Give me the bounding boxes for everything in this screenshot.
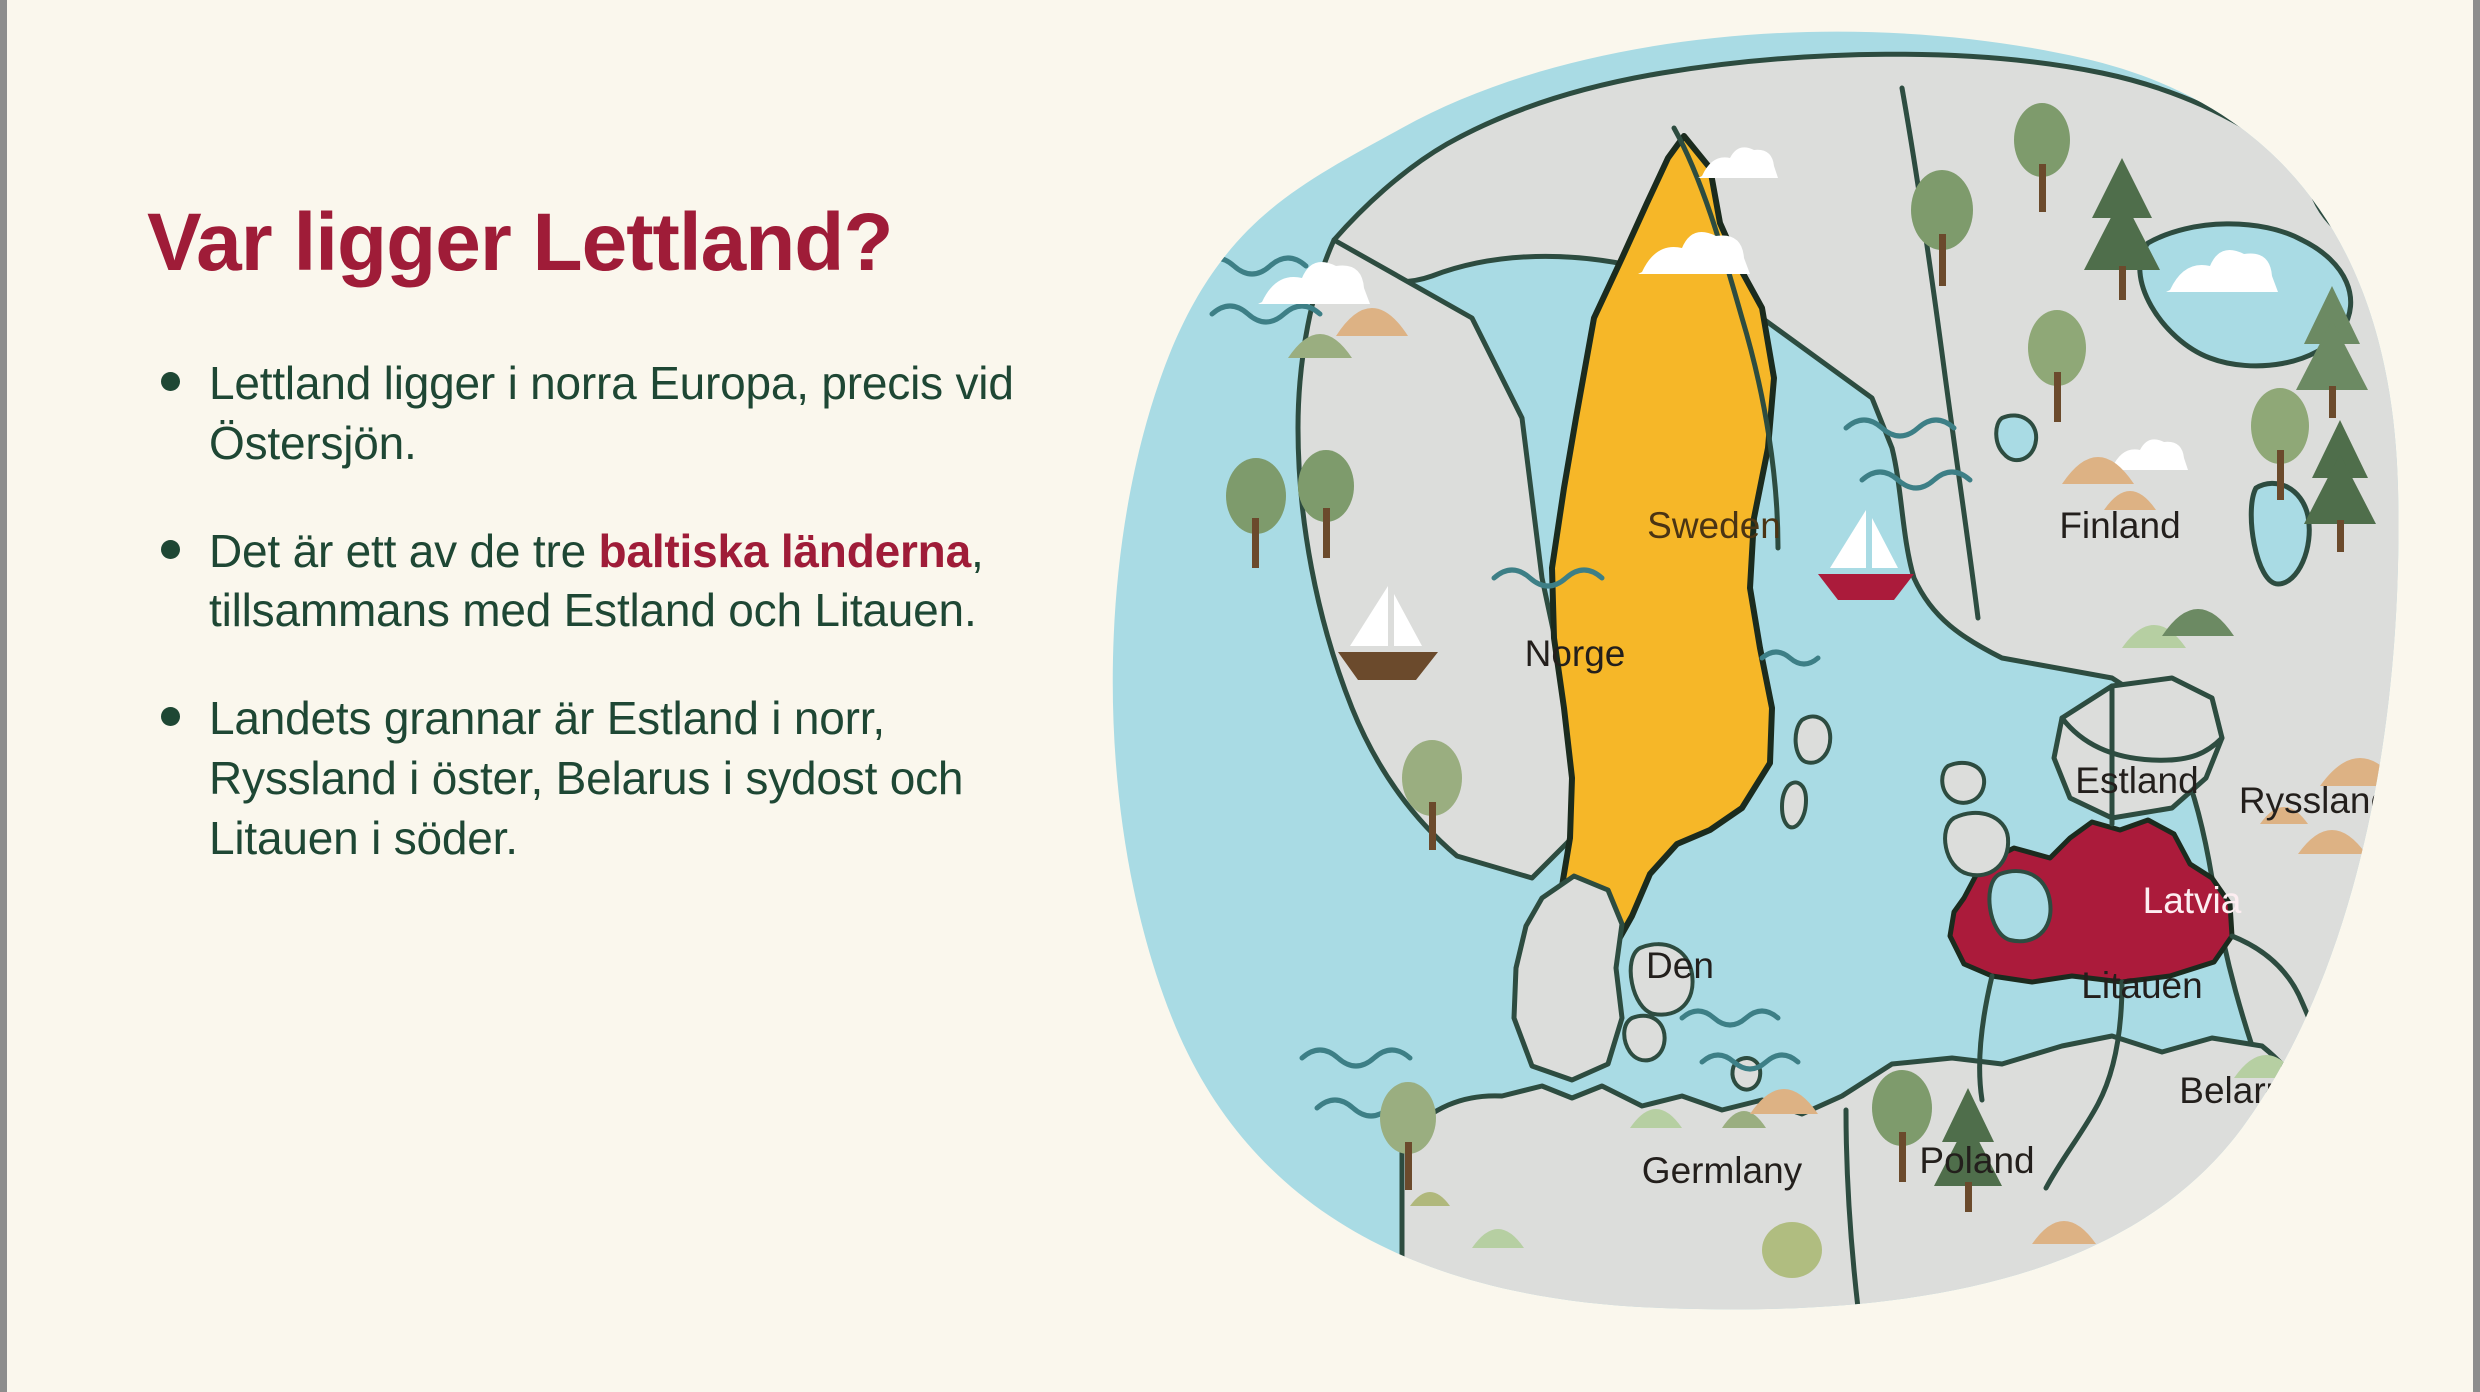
map-illustration: Sweden Norge Finland Estland Latvia Ryss… xyxy=(1102,18,2402,1378)
island-gotland xyxy=(1796,716,1831,762)
page-title: Var ligger Lettland? xyxy=(147,200,1047,286)
map-label-belarus: Belarus xyxy=(2179,1070,2304,1111)
lake-finland-small xyxy=(1996,415,2036,460)
bullet-text-2a: Det är ett av de tre xyxy=(209,525,599,577)
map-blob: Sweden Norge Finland Estland Latvia Ryss… xyxy=(1102,18,2402,1378)
map-label-ryssland: Ryssland xyxy=(2239,780,2391,821)
bullet-text-2-highlight: baltiska länderna xyxy=(599,525,971,577)
bullet-text-1: Lettland ligger i norra Europa, precis v… xyxy=(209,357,1014,469)
bullet-item-1: Lettland ligger i norra Europa, precis v… xyxy=(147,354,1047,474)
island-saaremaa xyxy=(1945,813,2008,875)
map-label-norge: Norge xyxy=(1525,633,1626,674)
map-svg: Sweden Norge Finland Estland Latvia Ryss… xyxy=(1102,18,2402,1378)
gulf-of-riga xyxy=(1989,871,2050,941)
bullet-text-3: Landets grannar är Estland i norr, Ryssl… xyxy=(209,692,963,864)
bullet-dot-icon xyxy=(161,707,180,726)
island-oland xyxy=(1782,782,1806,827)
map-label-latvia: Latvia xyxy=(2143,880,2242,921)
map-label-litauen: Litauen xyxy=(2081,965,2202,1006)
island-hiiumaa xyxy=(1942,763,1984,803)
map-label-sweden: Sweden xyxy=(1647,505,1781,546)
bullet-dot-icon xyxy=(161,372,180,391)
text-column: Var ligger Lettland? Lettland ligger i n… xyxy=(147,200,1047,917)
bullet-item-3: Landets grannar är Estland i norr, Ryssl… xyxy=(147,689,1047,868)
map-label-poland: Poland xyxy=(1919,1140,2034,1181)
map-label-estland: Estland xyxy=(2075,760,2198,801)
land-denmark-funen xyxy=(1624,1016,1664,1061)
map-label-denmark: Den xyxy=(1646,945,1714,986)
map-label-germlany: Germlany xyxy=(1642,1150,1803,1191)
bullet-list: Lettland ligger i norra Europa, precis v… xyxy=(147,354,1047,869)
slide-root: Var ligger Lettland? Lettland ligger i n… xyxy=(0,0,2480,1392)
map-label-finland: Finland xyxy=(2059,505,2180,546)
bullet-item-2: Det är ett av de tre baltiska länderna, … xyxy=(147,522,1047,642)
bullet-dot-icon xyxy=(161,540,180,559)
